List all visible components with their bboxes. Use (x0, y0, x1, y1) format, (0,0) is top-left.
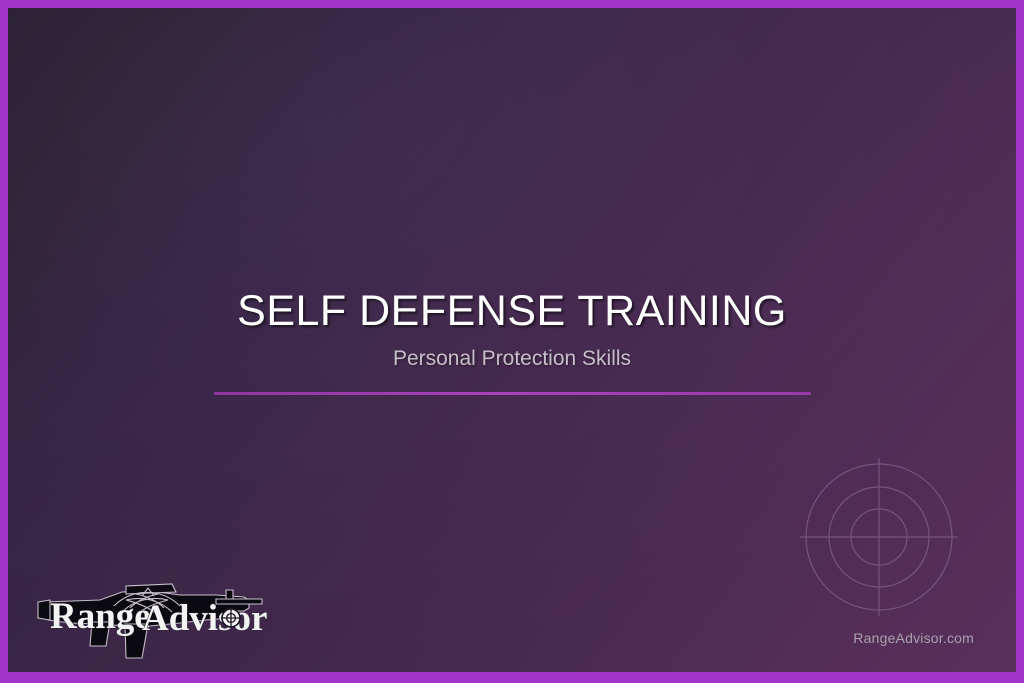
accent-divider (214, 392, 811, 395)
watermark-text: RangeAdvisor.com (853, 630, 974, 646)
crosshair-target-icon (790, 448, 968, 626)
page-subtitle: Personal Protection Skills (8, 346, 1016, 371)
title-block: SELF DEFENSE TRAINING Personal Protectio… (8, 286, 1016, 395)
page-title: SELF DEFENSE TRAINING (8, 286, 1016, 337)
brand-logo: Range Advisor (30, 566, 272, 666)
logo-wordmark-secondary: Advisor (142, 598, 267, 639)
logo-wordmark-primary: Range (50, 596, 151, 637)
presentation-slide: SELF DEFENSE TRAINING Personal Protectio… (0, 0, 1024, 683)
slide-canvas: SELF DEFENSE TRAINING Personal Protectio… (8, 8, 1016, 672)
